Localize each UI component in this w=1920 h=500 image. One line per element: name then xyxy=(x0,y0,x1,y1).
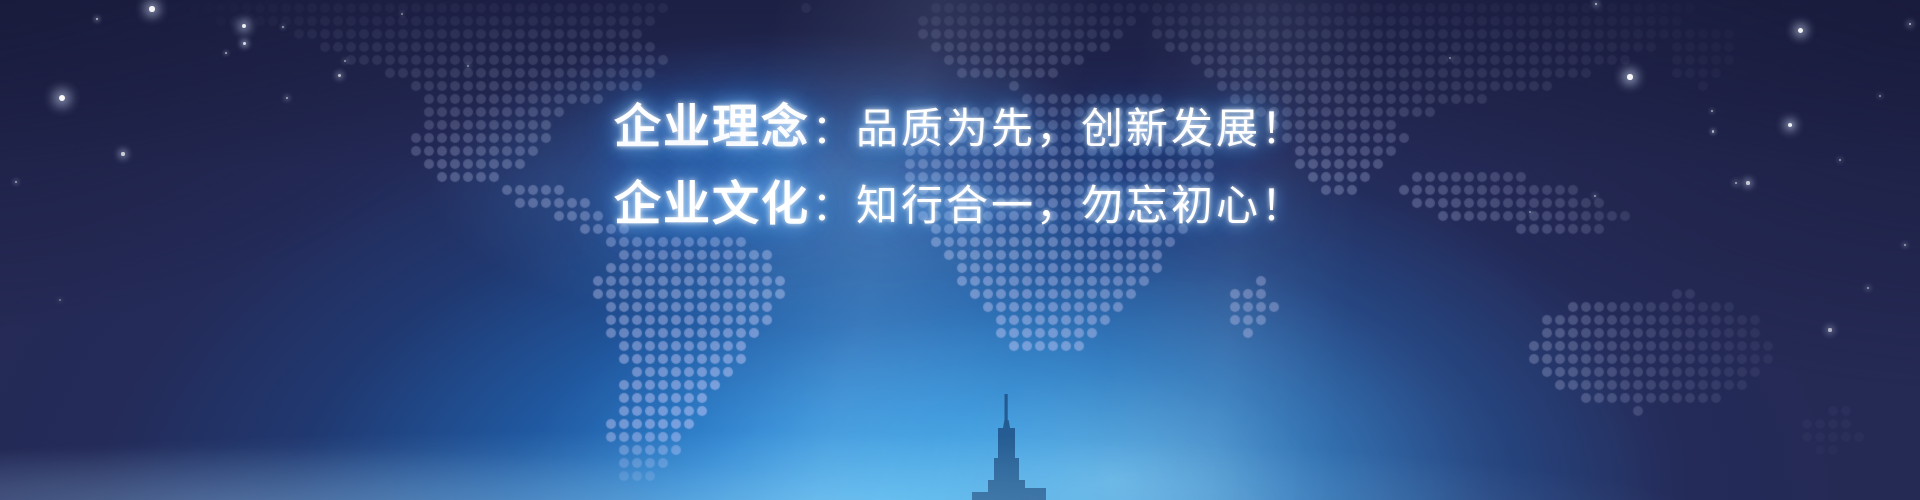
star xyxy=(59,299,61,301)
star xyxy=(225,52,227,54)
headline-line-2: 企业文化：知行合一，勿忘初心！ xyxy=(0,181,1920,228)
line-2-body: 知行合一，勿忘初心！ xyxy=(856,181,1306,230)
star xyxy=(1867,287,1869,289)
line-1-colon: ： xyxy=(812,107,852,153)
company-philosophy-banner: 企业理念：品质为先，创新发展！ 企业文化：知行合一，勿忘初心！ xyxy=(0,0,1920,500)
light-streak xyxy=(0,0,1920,500)
star xyxy=(59,95,65,101)
star xyxy=(243,42,246,45)
headline-backglow xyxy=(0,0,1920,500)
star xyxy=(282,26,284,28)
star xyxy=(1909,23,1912,26)
dotted-world-map xyxy=(0,0,1920,500)
star xyxy=(338,74,341,77)
headline-block: 企业理念：品质为先，创新发展！ 企业文化：知行合一，勿忘初心！ xyxy=(0,104,1920,228)
star xyxy=(1449,57,1451,59)
star xyxy=(344,60,346,62)
corner-vignette xyxy=(0,0,1920,500)
star xyxy=(1595,3,1598,6)
star xyxy=(1904,244,1906,246)
background-glow-main xyxy=(0,0,1920,500)
star xyxy=(96,18,98,20)
star xyxy=(1627,74,1632,79)
dotted-world-map-canvas xyxy=(0,0,1920,500)
line-2-lead: 企业文化 xyxy=(614,177,810,232)
star xyxy=(401,13,403,15)
star xyxy=(1798,28,1803,33)
star xyxy=(149,6,154,11)
background-glow-secondary xyxy=(0,0,1920,500)
line-1-lead: 企业理念 xyxy=(614,100,810,155)
star xyxy=(1828,328,1831,331)
headline-line-1: 企业理念：品质为先，创新发展！ xyxy=(0,104,1920,151)
horizon-glow xyxy=(0,0,1920,500)
skyscraper-silhouette xyxy=(0,380,1920,500)
star xyxy=(286,97,288,99)
line-2-colon: ： xyxy=(812,184,852,230)
star xyxy=(1879,95,1881,97)
line-1-body: 品质为先，创新发展！ xyxy=(856,104,1306,153)
star xyxy=(467,65,469,67)
star-field xyxy=(0,0,1920,500)
star xyxy=(242,24,247,29)
